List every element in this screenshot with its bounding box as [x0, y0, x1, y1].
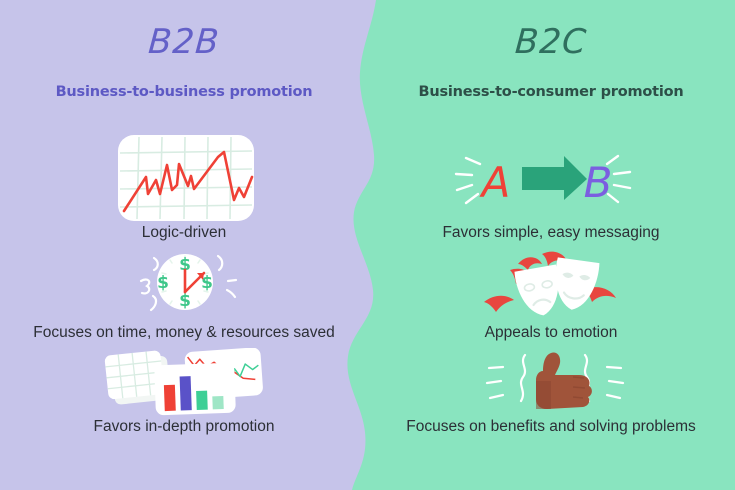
b2b-title: B2B	[0, 22, 369, 62]
line-chart-icon	[116, 133, 256, 223]
b2b-caption-3: Favors in-depth promotion	[0, 418, 368, 436]
b2c-caption-2: Appeals to emotion	[367, 324, 735, 342]
b2b-caption-1: Logic-driven	[0, 224, 368, 242]
a-to-b-arrow-icon: A B	[452, 142, 642, 214]
b2c-caption-1: Favors simple, easy messaging	[367, 224, 735, 242]
b2b-caption-2: Focuses on time, money & resources saved	[0, 324, 368, 342]
b2c-title: B2C	[366, 22, 735, 62]
arrow-shape	[522, 156, 587, 200]
letter-a: A	[479, 158, 511, 207]
money-clock-icon: $ $ $ $	[132, 248, 238, 320]
dollar-symbol-bottom: $	[179, 291, 191, 311]
b2c-subtitle: Business-to-consumer promotion	[367, 84, 735, 100]
thumbs-up-icon	[485, 347, 625, 415]
b2c-caption-3: Focuses on benefits and solving problems	[367, 418, 735, 436]
dollar-symbol-left: $	[157, 273, 169, 293]
infographic-root: B2B Business-to-business promotion	[0, 0, 735, 490]
b2b-subtitle: Business-to-business promotion	[0, 84, 368, 100]
column-b2c: B2C Business-to-consumer promotion A	[367, 0, 735, 490]
column-b2b: B2B Business-to-business promotion	[0, 0, 368, 490]
theater-masks-icon	[480, 250, 622, 320]
hand-shape	[536, 353, 592, 409]
letter-b: B	[584, 158, 613, 207]
stacked-reports-icon	[103, 348, 263, 416]
